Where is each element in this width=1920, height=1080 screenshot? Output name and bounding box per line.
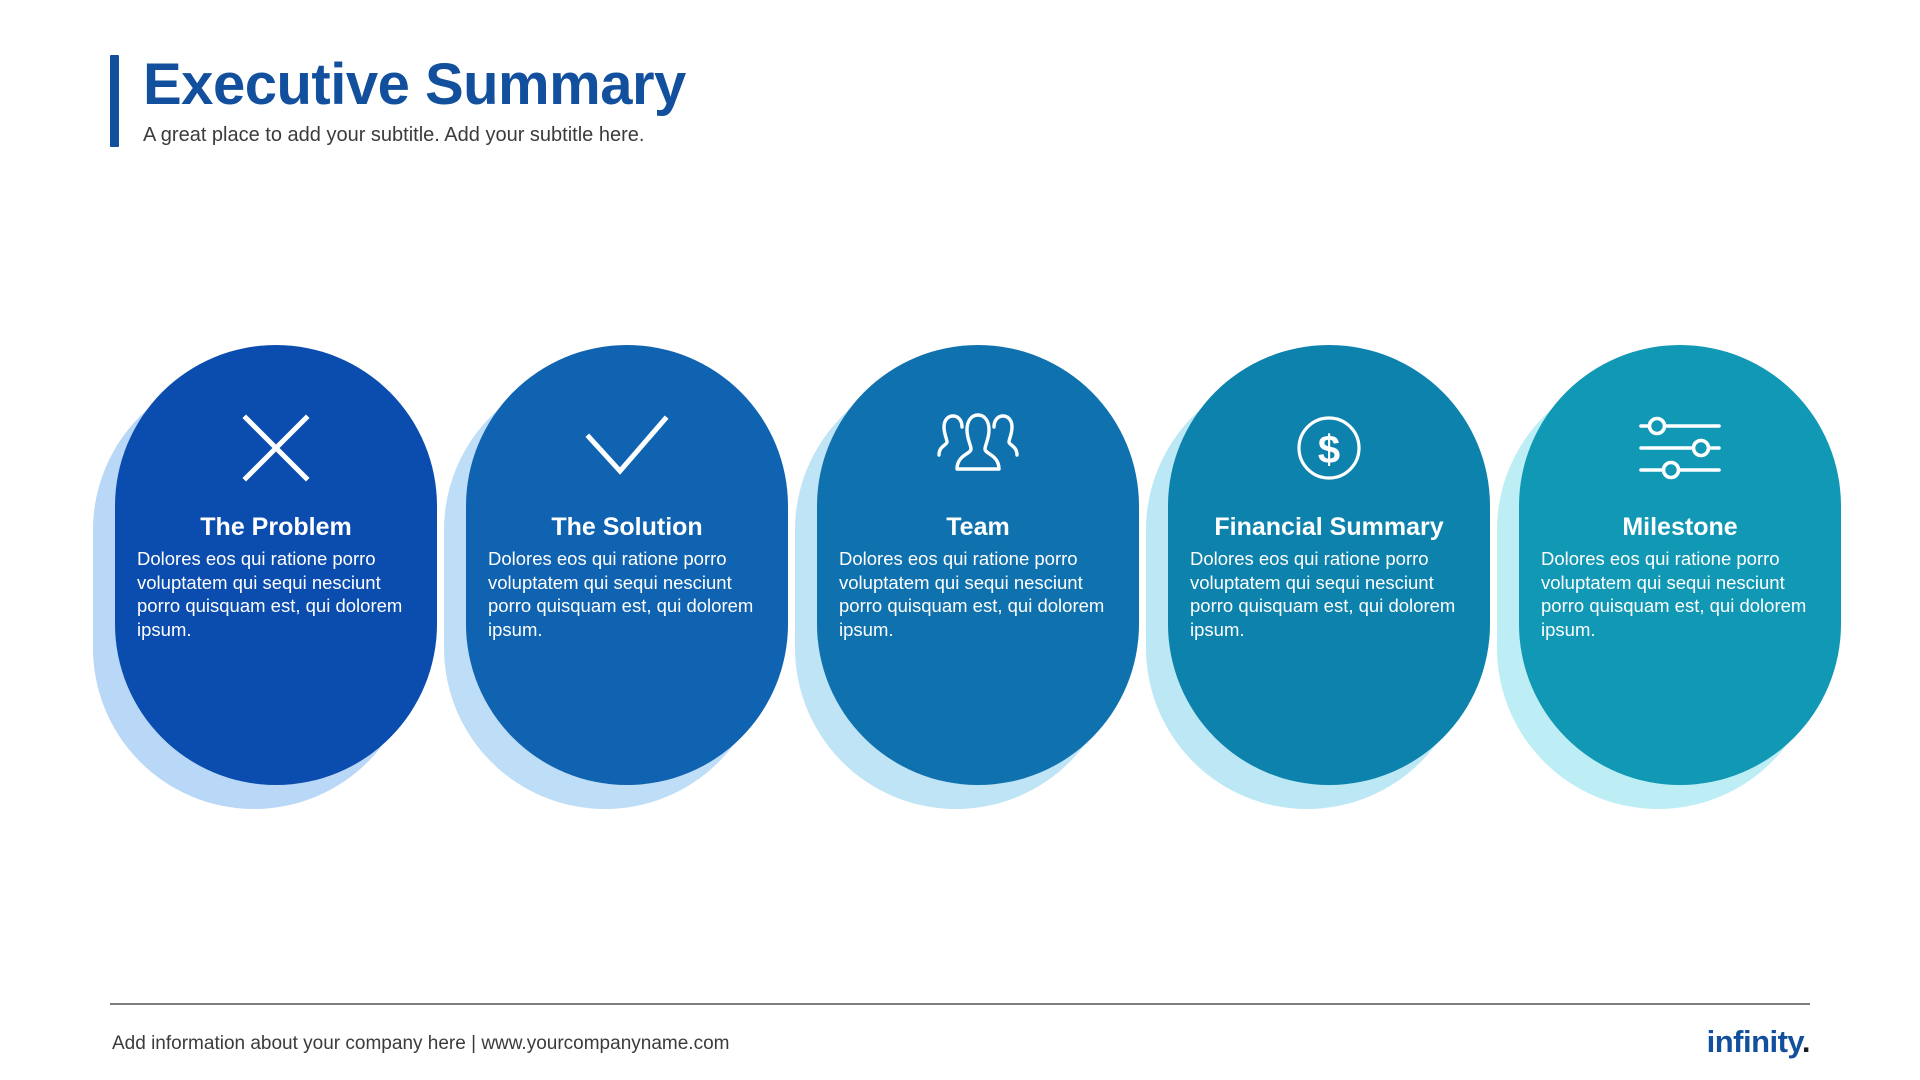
logo-wordmark: infinity bbox=[1707, 1024, 1802, 1059]
card-milestone[interactable]: Milestone Dolores eos qui ratione porro … bbox=[1519, 345, 1841, 785]
slide-header: Executive Summary A great place to add y… bbox=[110, 55, 686, 147]
card-surface[interactable]: The Problem Dolores eos qui ratione porr… bbox=[115, 345, 437, 785]
sliders-icon bbox=[1637, 400, 1723, 496]
card-financial-summary[interactable]: $ Financial Summary Dolores eos qui rati… bbox=[1168, 345, 1490, 785]
header-text-group: Executive Summary A great place to add y… bbox=[143, 55, 686, 147]
card-title: The Problem bbox=[200, 513, 351, 542]
company-logo[interactable]: infinity. bbox=[1707, 1024, 1810, 1060]
card-description: Dolores eos qui ratione porro voluptatem… bbox=[1541, 547, 1819, 642]
people-group-icon bbox=[935, 400, 1021, 496]
card-description: Dolores eos qui ratione porro voluptatem… bbox=[839, 547, 1117, 642]
card-title: Milestone bbox=[1622, 513, 1737, 542]
card-description: Dolores eos qui ratione porro voluptatem… bbox=[1190, 547, 1468, 642]
card-title: Financial Summary bbox=[1214, 513, 1443, 542]
card-text-block: Financial Summary Dolores eos qui ration… bbox=[1190, 513, 1468, 785]
card-text-block: Team Dolores eos qui ratione porro volup… bbox=[839, 513, 1117, 785]
card-text-block: The Solution Dolores eos qui ratione por… bbox=[488, 513, 766, 785]
footer-divider bbox=[110, 1003, 1810, 1005]
footer-company-info: Add information about your company here … bbox=[112, 1033, 729, 1055]
card-surface[interactable]: Team Dolores eos qui ratione porro volup… bbox=[817, 345, 1139, 785]
dollar-circle-icon: $ bbox=[1290, 400, 1368, 496]
page-title: Executive Summary bbox=[143, 55, 686, 114]
page-subtitle: A great place to add your subtitle. Add … bbox=[143, 123, 686, 147]
close-x-icon bbox=[239, 400, 313, 496]
card-text-block: The Problem Dolores eos qui ratione porr… bbox=[137, 513, 415, 785]
card-description: Dolores eos qui ratione porro voluptatem… bbox=[488, 547, 766, 642]
card-the-solution[interactable]: The Solution Dolores eos qui ratione por… bbox=[466, 345, 788, 785]
svg-text:$: $ bbox=[1318, 428, 1340, 472]
cards-row: The Problem Dolores eos qui ratione porr… bbox=[0, 345, 1920, 815]
card-surface[interactable]: The Solution Dolores eos qui ratione por… bbox=[466, 345, 788, 785]
card-description: Dolores eos qui ratione porro voluptatem… bbox=[137, 547, 415, 642]
card-surface[interactable]: $ Financial Summary Dolores eos qui rati… bbox=[1168, 345, 1490, 785]
card-title: The Solution bbox=[551, 513, 702, 542]
logo-dot: . bbox=[1802, 1024, 1810, 1059]
card-text-block: Milestone Dolores eos qui ratione porro … bbox=[1541, 513, 1819, 785]
card-team[interactable]: Team Dolores eos qui ratione porro volup… bbox=[817, 345, 1139, 785]
card-the-problem[interactable]: The Problem Dolores eos qui ratione porr… bbox=[115, 345, 437, 785]
checkmark-icon bbox=[582, 400, 672, 496]
card-surface[interactable]: Milestone Dolores eos qui ratione porro … bbox=[1519, 345, 1841, 785]
title-accent-bar bbox=[110, 55, 119, 147]
card-title: Team bbox=[946, 513, 1009, 542]
